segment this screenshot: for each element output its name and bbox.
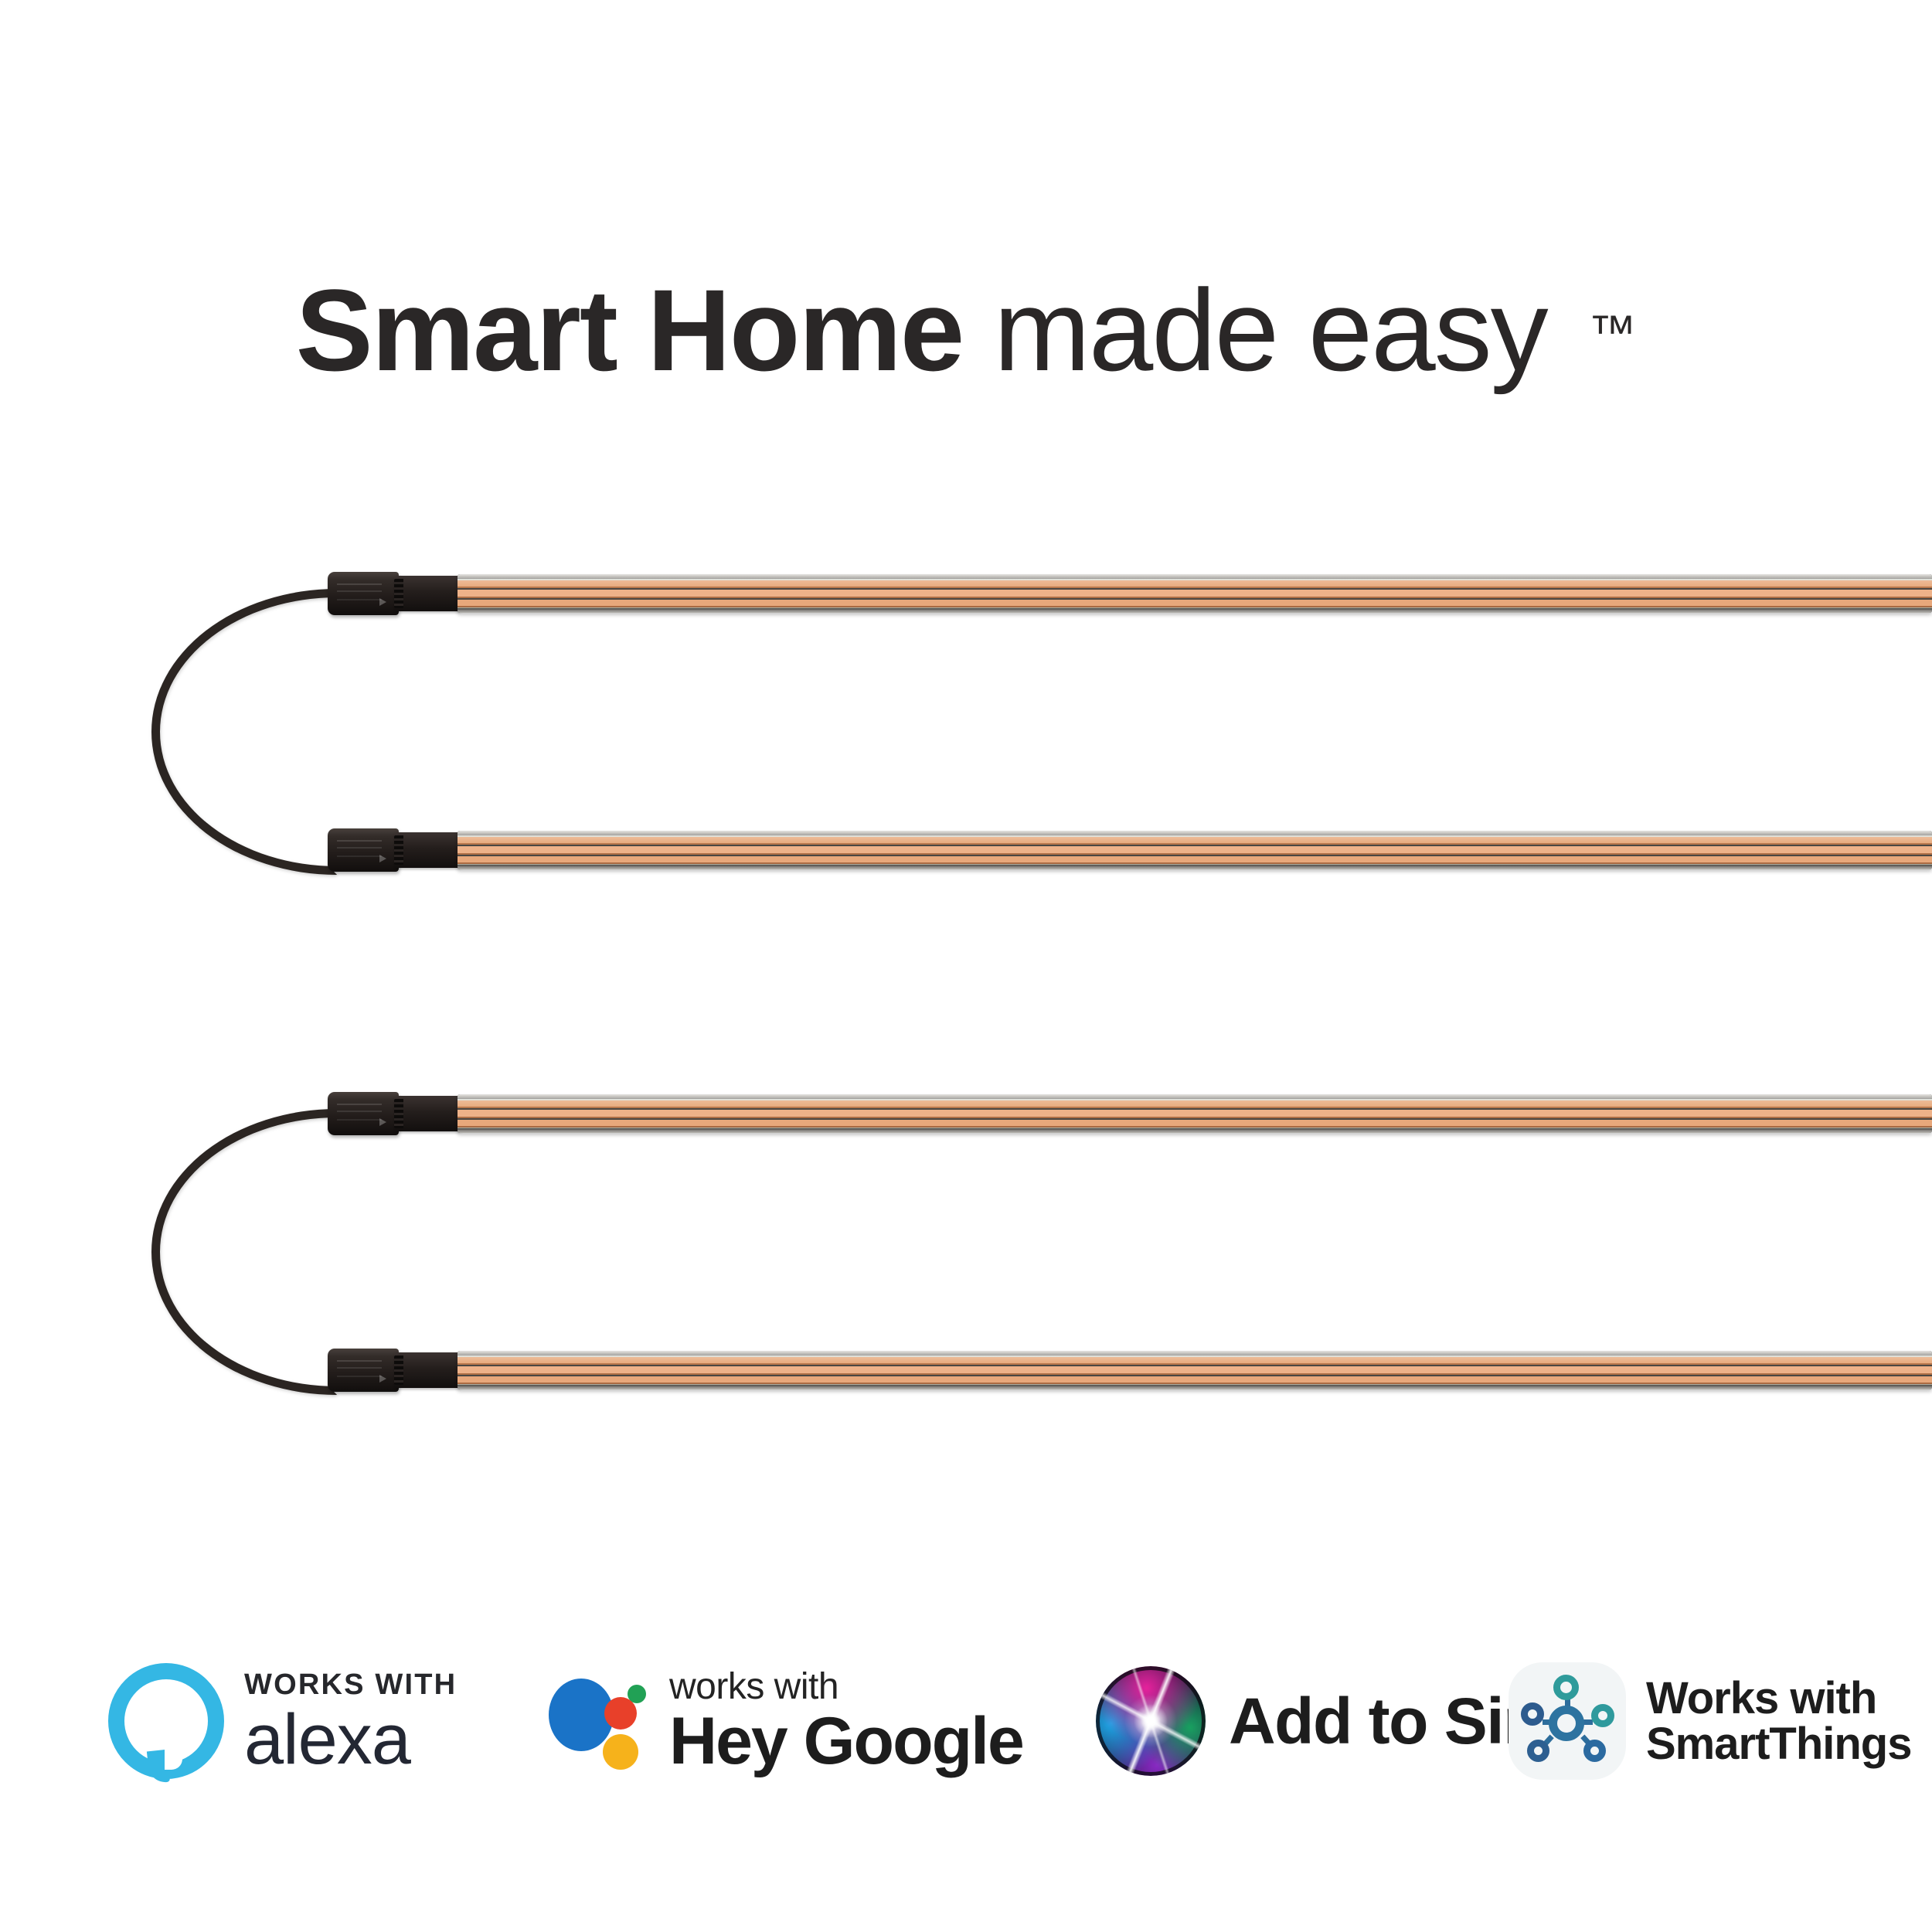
badge-works-with-smartthings: Works with SmartThings <box>1509 1632 1912 1810</box>
trademark-symbol: ™ <box>1588 306 1636 359</box>
led-light-strip <box>457 1351 1932 1389</box>
badge-google-line1: works with <box>669 1668 1023 1706</box>
badge-works-with-alexa: WORKS WITH alexa <box>108 1632 457 1810</box>
badge-smartthings-line1: Works with <box>1646 1675 1912 1721</box>
product-marketing-image: { "background_color": "#ffffff", "headli… <box>0 0 1932 1932</box>
compatibility-badge-row: WORKS WITH alexa works with Hey Google A… <box>0 1632 1932 1825</box>
led-light-strip <box>457 831 1932 869</box>
led-light-strip <box>457 1094 1932 1133</box>
page-title: Smart Home made easy ™ <box>0 272 1932 388</box>
headline-bold-text: Smart Home <box>296 265 964 395</box>
strip-strain-relief <box>394 832 461 868</box>
strip-connector <box>328 1349 399 1392</box>
led-strip-pcb <box>457 835 1932 866</box>
badge-works-with-hey-google: works with Hey Google <box>549 1632 1023 1810</box>
headline-light-text: made easy <box>994 265 1547 395</box>
badge-smartthings-line2: SmartThings <box>1646 1721 1912 1767</box>
strip-strain-relief <box>394 1096 461 1131</box>
badge-add-to-siri: Add to Siri <box>1096 1632 1544 1810</box>
badge-google-line2: Hey Google <box>669 1710 1023 1774</box>
badge-alexa-line1: WORKS WITH <box>244 1670 457 1699</box>
alexa-ring-icon <box>108 1663 224 1779</box>
product-image <box>0 495 1932 1499</box>
badge-siri-line2: Add to Siri <box>1229 1689 1544 1753</box>
led-strip-pcb <box>457 1355 1932 1386</box>
badge-alexa-line2: alexa <box>244 1707 457 1773</box>
strip-connector <box>328 1092 399 1135</box>
smartthings-nodes-icon <box>1509 1662 1626 1780</box>
led-light-strip <box>457 574 1932 613</box>
strip-strain-relief <box>394 576 461 611</box>
google-assistant-dots-icon <box>549 1663 651 1779</box>
jumper-cable-loop <box>151 589 337 875</box>
led-strip-pcb <box>457 1098 1932 1129</box>
led-strip-pcb <box>457 578 1932 609</box>
jumper-cable-loop <box>151 1109 337 1395</box>
siri-orb-icon <box>1096 1666 1206 1776</box>
strip-connector <box>328 828 399 872</box>
strip-connector <box>328 572 399 615</box>
strip-strain-relief <box>394 1352 461 1388</box>
